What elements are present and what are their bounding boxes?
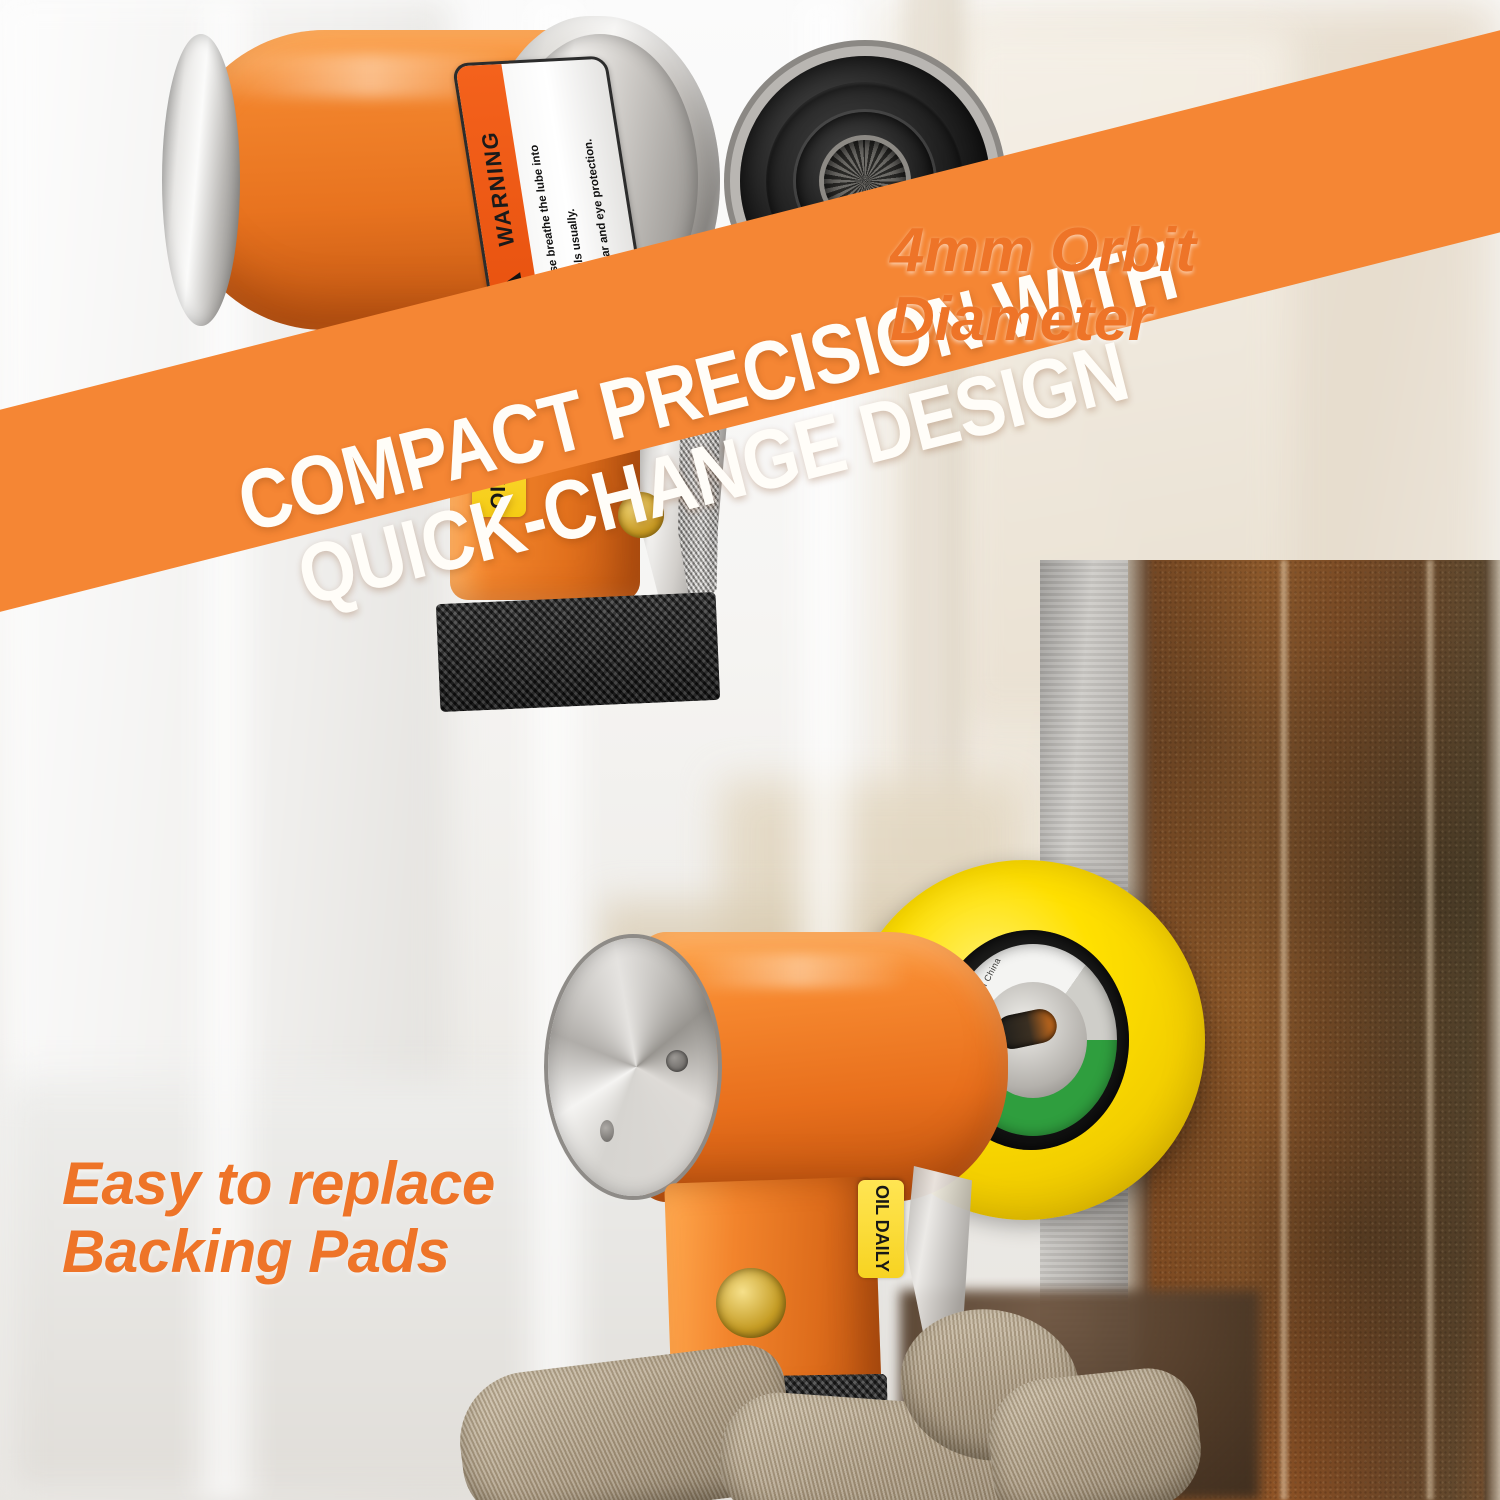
headline-block: 4mm Orbit Diameter xyxy=(890,216,1196,355)
end-cap-pin xyxy=(600,1120,614,1142)
barrel-end-cap xyxy=(548,938,718,1196)
barrel-end-cap xyxy=(162,34,240,326)
headline-line-2: Diameter xyxy=(890,285,1196,354)
caption-line-2: Backing Pads xyxy=(62,1218,495,1286)
warning-heading: WARNING xyxy=(476,130,520,247)
end-cap-screw xyxy=(666,1050,688,1072)
rust-right-edge xyxy=(1482,560,1500,1500)
caption-line-1: Easy to replace xyxy=(62,1150,495,1218)
rubber-grip-sleeve xyxy=(436,592,720,712)
caption-block: Easy to replace Backing Pads xyxy=(62,1150,495,1287)
headline-line-1: 4mm Orbit xyxy=(890,216,1196,285)
barrel-highlight xyxy=(690,954,910,988)
oil-daily-sticker: OIL DAILY xyxy=(858,1180,904,1278)
work-glove xyxy=(430,1300,1150,1500)
brass-air-inlet xyxy=(618,492,664,538)
rust-weld-seam xyxy=(1278,560,1290,1500)
product-marketing-image: WARNING · please breathe the lube into t… xyxy=(0,0,1500,1500)
oil-daily-text: OIL DAILY xyxy=(871,1185,892,1272)
rust-weld-seam xyxy=(1424,560,1436,1500)
